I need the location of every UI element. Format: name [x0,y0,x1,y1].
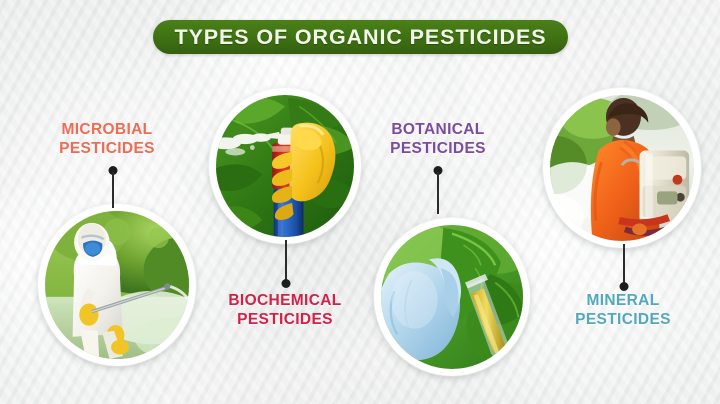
connector-biochemical [280,240,291,288]
label-microbial-line1: MICROBIAL [62,121,153,138]
photo-mineral [550,95,694,241]
label-microbial: MICROBIAL PESTICIDES [12,121,202,159]
label-botanical-line1: BOTANICAL [391,121,484,138]
label-mineral: MINERAL PESTICIDES [528,292,718,330]
page-title: TYPES OF ORGANIC PESTICIDES [175,25,547,50]
label-biochemical-line1: BIOCHEMICAL [228,292,341,309]
label-biochemical: BIOCHEMICAL PESTICIDES [190,292,380,330]
label-botanical-line2: PESTICIDES [343,140,533,159]
connector-botanical [432,166,443,214]
photo-microbial [45,211,189,359]
label-biochemical-line2: PESTICIDES [190,311,380,330]
connector-mineral [618,244,629,290]
photo-bubble-mineral[interactable] [543,88,701,248]
infographic-canvas: TYPES OF ORGANIC PESTICIDES [0,0,720,404]
label-mineral-line1: MINERAL [586,292,659,309]
photo-botanical [381,225,523,369]
label-mineral-line2: PESTICIDES [528,311,718,330]
photo-biochemical [216,95,354,237]
photo-bubble-microbial[interactable] [38,204,196,366]
photo-bubble-biochemical[interactable] [209,88,361,244]
label-microbial-line2: PESTICIDES [12,140,202,159]
page-title-banner: TYPES OF ORGANIC PESTICIDES [153,20,568,54]
photo-bubble-botanical[interactable] [374,218,530,376]
connector-microbial [107,166,118,208]
label-botanical: BOTANICAL PESTICIDES [343,121,533,159]
